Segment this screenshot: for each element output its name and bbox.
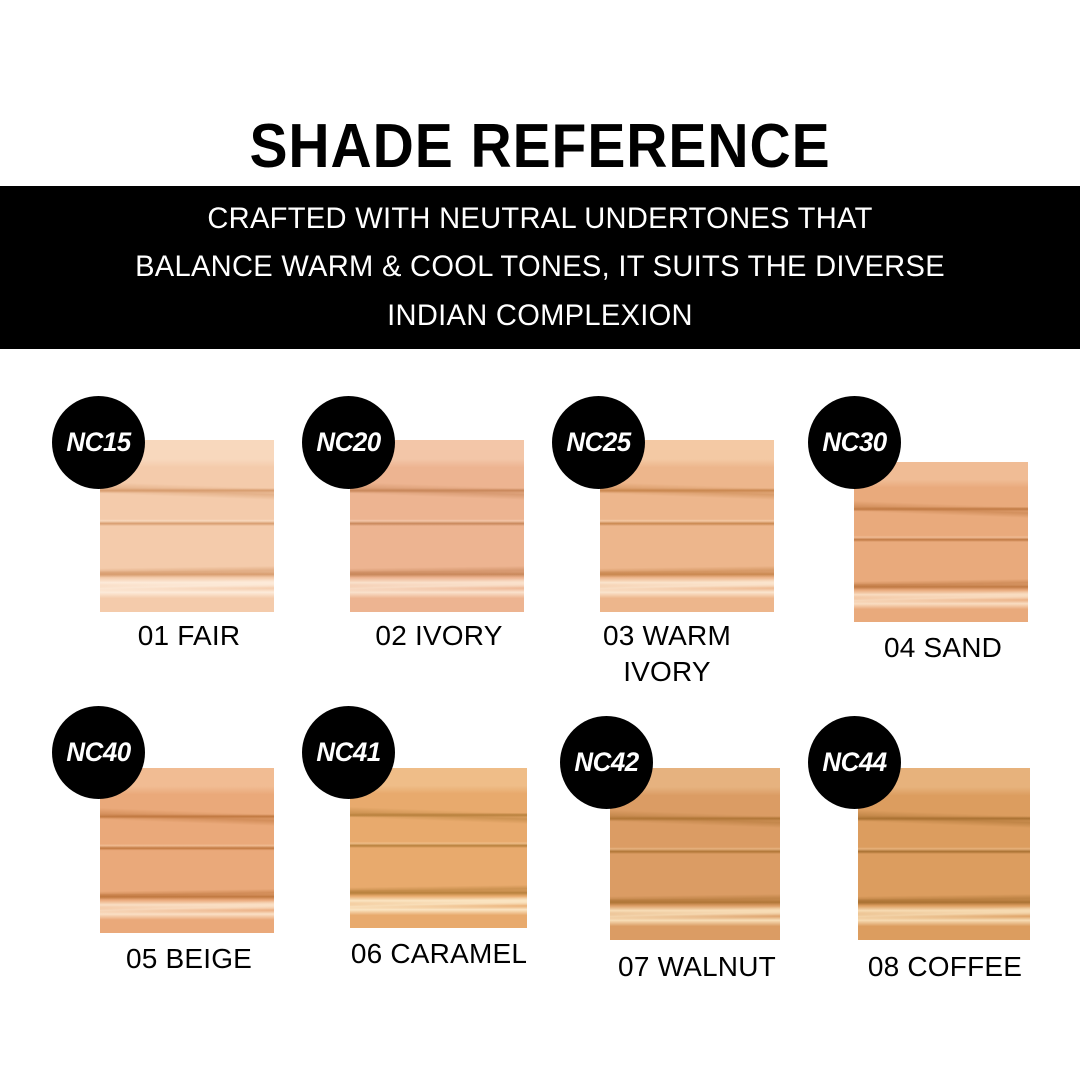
shade-badge-label: NC15	[66, 429, 130, 456]
shade-name-nc20: 02 IVORY	[284, 618, 594, 654]
shade-name-nc30: 04 SAND	[788, 630, 1080, 666]
shade-badge-label: NC44	[822, 749, 886, 776]
description-banner: CRAFTED WITH NEUTRAL UNDERTONES THAT BAL…	[0, 186, 1080, 349]
shade-name-nc25: 03 WARM IVORY	[582, 618, 752, 690]
shade-cell-nc41[interactable]: NC41 06 CARAMEL	[302, 706, 552, 976]
shade-cell-nc40[interactable]: NC40 05 BEIGE	[52, 706, 302, 976]
banner-line-2: BALANCE WARM & COOL TONES, IT SUITS THE …	[16, 243, 1064, 292]
shade-badge-label: NC25	[566, 429, 630, 456]
shade-cell-nc42[interactable]: NC42 07 WALNUT	[560, 716, 810, 986]
banner-line-1: CRAFTED WITH NEUTRAL UNDERTONES THAT	[16, 195, 1064, 244]
shade-cell-nc25[interactable]: NC25 03 WARM IVORY	[552, 396, 802, 686]
shade-badge-label: NC30	[822, 429, 886, 456]
shade-cell-nc44[interactable]: NC44 08 COFFEE	[808, 716, 1058, 986]
shade-swatch-nc40	[100, 768, 274, 933]
banner-line-3: INDIAN COMPLEXION	[16, 292, 1064, 341]
shade-badge-label: NC40	[66, 739, 130, 766]
shade-badge-label: NC41	[316, 739, 380, 766]
shade-badge-nc41[interactable]: NC41	[302, 706, 395, 799]
shade-badge-nc30[interactable]: NC30	[808, 396, 901, 489]
shade-badge-nc42[interactable]: NC42	[560, 716, 653, 809]
shade-badge-nc40[interactable]: NC40	[52, 706, 145, 799]
banner-text: CRAFTED WITH NEUTRAL UNDERTONES THAT BAL…	[16, 195, 1064, 341]
shade-cell-nc20[interactable]: NC20 02 IVORY	[302, 396, 552, 666]
shade-badge-nc15[interactable]: NC15	[52, 396, 145, 489]
page-title: SHADE REFERENCE	[43, 114, 1037, 179]
shade-cell-nc15[interactable]: NC15 01 FAIR	[52, 396, 302, 666]
shade-swatch-nc41	[350, 768, 527, 928]
shade-name-nc44: 08 COFFEE	[790, 949, 1080, 985]
shade-swatch-nc30	[854, 462, 1028, 622]
shade-badge-label: NC20	[316, 429, 380, 456]
shade-badge-label: NC42	[574, 749, 638, 776]
shade-badge-nc44[interactable]: NC44	[808, 716, 901, 809]
shade-cell-nc30[interactable]: NC30 04 SAND	[806, 396, 1056, 666]
shade-badge-nc25[interactable]: NC25	[552, 396, 645, 489]
shade-badge-nc20[interactable]: NC20	[302, 396, 395, 489]
